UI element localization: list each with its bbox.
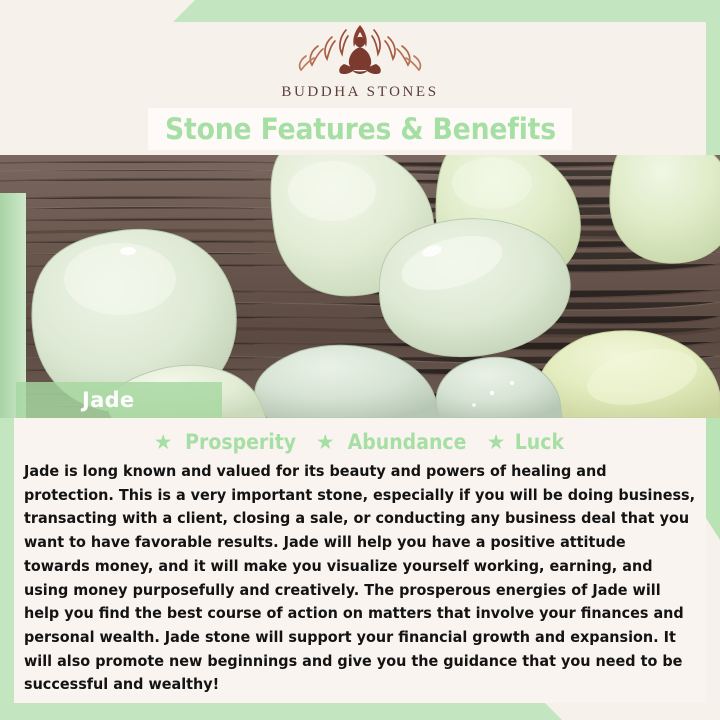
jade-tumbled-stones-photo	[0, 155, 720, 418]
keyword-prosperity: ★ Prosperity	[154, 430, 302, 454]
stone-name: Jade	[82, 388, 134, 412]
section-title-bar: Stone Features & Benefits	[148, 108, 572, 150]
keyword-abundance: ★ Abundance	[316, 430, 473, 454]
benefits-panel: ★ Prosperity ★ Abundance ★ Luck Jade is …	[14, 418, 706, 703]
decor-band-right-lower	[706, 418, 720, 540]
brand-wordmark: BUDDHA STONES	[281, 84, 438, 101]
photo-illustration	[0, 155, 720, 418]
infographic-page: BUDDHA STONES Stone Features & Benefits	[0, 0, 720, 720]
keyword-label: Prosperity	[185, 430, 296, 454]
lotus-meditation-icon	[296, 18, 424, 80]
brand-header: BUDDHA STONES	[0, 0, 720, 112]
decor-band-left-lower	[0, 418, 14, 720]
keyword-list: ★ Prosperity ★ Abundance ★ Luck	[24, 426, 696, 458]
stone-name-band: Jade	[16, 382, 222, 418]
keyword-luck: ★ Luck	[487, 430, 567, 454]
stone-description: Jade is long known and valued for its be…	[24, 460, 696, 697]
star-icon: ★	[316, 432, 335, 453]
keyword-label: Abundance	[347, 430, 466, 454]
star-icon: ★	[154, 432, 173, 453]
star-icon: ★	[487, 432, 506, 453]
page-title: Stone Features & Benefits	[165, 112, 556, 146]
keyword-label: Luck	[514, 430, 563, 454]
